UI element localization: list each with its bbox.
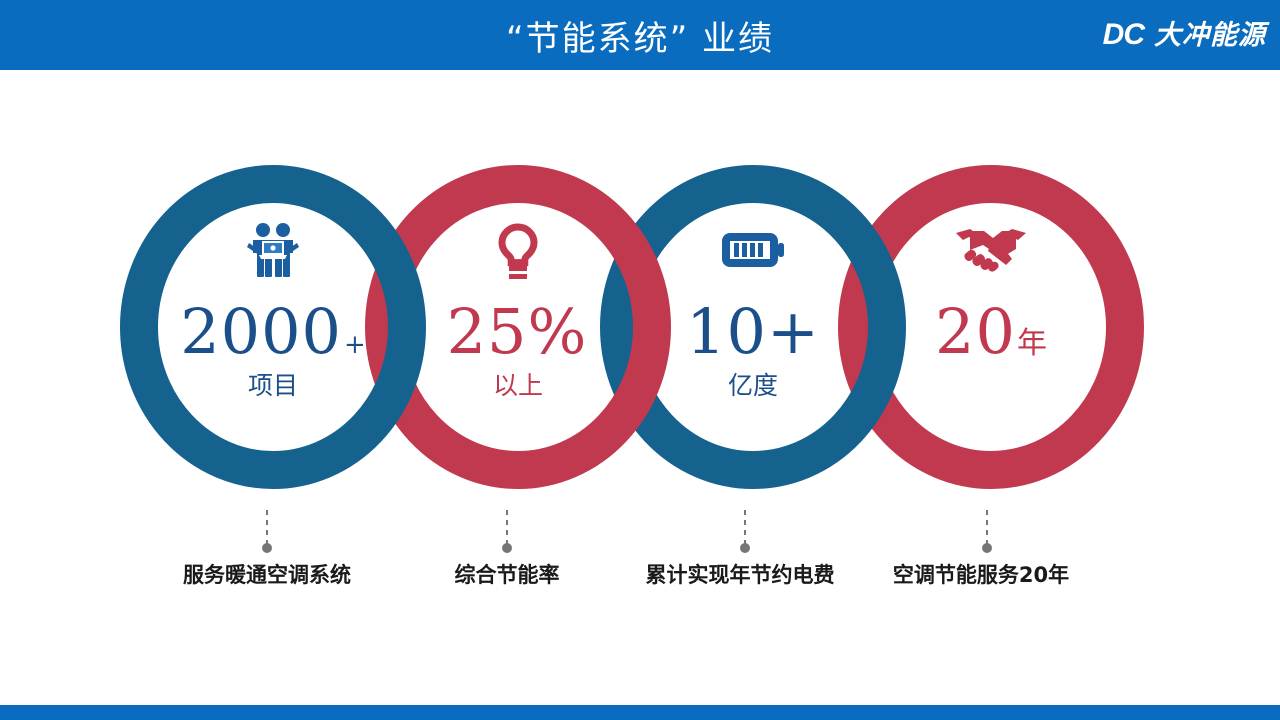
header-bar: “节能系统” 业绩 DC 大冲能源	[0, 0, 1280, 70]
stat-label-service-years: 空调节能服务20年	[876, 565, 1086, 586]
stat-label-energy-saving-rate: 综合节能率	[397, 565, 617, 586]
slide: “节能系统” 业绩 DC 大冲能源	[0, 0, 1280, 720]
connector-dot	[262, 543, 272, 553]
page-title: “节能系统” 业绩	[0, 0, 1280, 70]
logo-company-name: 大冲能源	[1154, 22, 1266, 49]
connector-dot	[740, 543, 750, 553]
logo-mark: DC	[1103, 20, 1144, 50]
ring-shape-blue-1	[120, 165, 426, 489]
stat-ring-projects[interactable]: 2000 + 项目	[120, 165, 426, 489]
connector-dot	[502, 543, 512, 553]
connector-dot	[982, 543, 992, 553]
connector-line	[744, 510, 746, 544]
footer-bar	[0, 705, 1280, 720]
stat-label-projects: 服务暖通空调系统	[107, 565, 427, 586]
rings-stage: 2000 + 项目	[0, 70, 1280, 705]
connector-line	[506, 510, 508, 544]
stat-label-electricity-saved: 累计实现年节约电费	[635, 565, 845, 586]
connector-line	[986, 510, 988, 544]
connector-line	[266, 510, 268, 544]
company-logo: DC 大冲能源	[1103, 12, 1266, 58]
